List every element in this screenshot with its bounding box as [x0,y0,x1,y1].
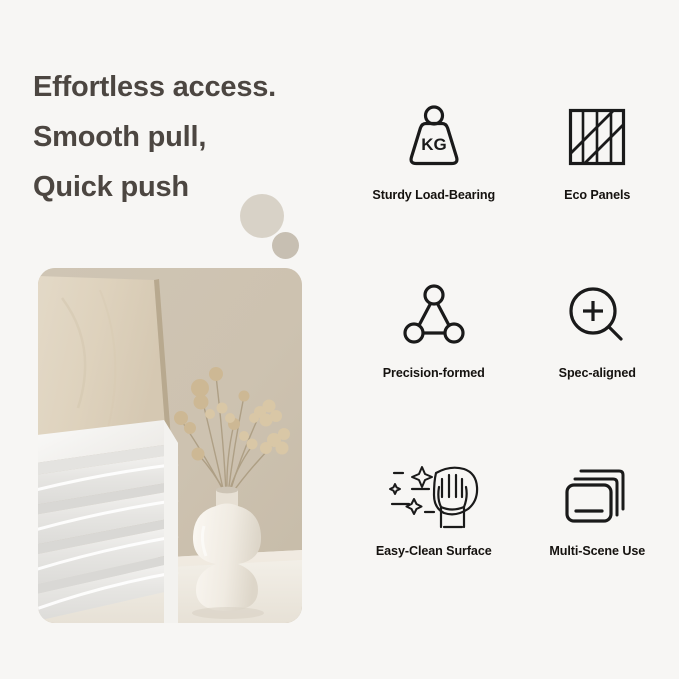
feature-item: Easy-Clean Surface [352,452,516,630]
feature-item: Eco Panels [516,96,679,274]
feature-label: Spec-aligned [559,366,636,380]
feature-label: Sturdy Load-Bearing [372,188,495,202]
weight-icon-text: KG [421,135,447,154]
headline-line-3: Quick push [33,162,333,212]
triangle-nodes-icon [400,274,468,356]
feature-item: Spec-aligned [516,274,679,452]
right-panel: KG Sturdy Load-Bearing [352,0,679,679]
magnifier-plus-icon [563,274,631,356]
wood-panel-icon [566,96,628,178]
feature-grid: KG Sturdy Load-Bearing [352,96,679,630]
stacked-squares-icon [561,452,633,534]
product-feature-page: Effortless access. Smooth pull, Quick pu… [0,0,679,679]
feature-item: Multi-Scene Use [516,452,679,630]
decorative-circle-small [272,232,299,259]
headline-line-1: Effortless access. [33,62,333,112]
decorative-circle-large [240,194,284,238]
hand-wiping-cloth-icon [384,452,484,534]
weight-kg-icon: KG [397,96,471,178]
feature-label: Easy-Clean Surface [376,544,492,558]
feature-label: Eco Panels [564,188,630,202]
feature-label: Multi-Scene Use [549,544,645,558]
paper-organizer-tray [38,420,178,623]
feature-label: Precision-formed [383,366,485,380]
headline-line-2: Smooth pull, [33,112,333,162]
feature-item: KG Sturdy Load-Bearing [352,96,516,274]
left-panel: Effortless access. Smooth pull, Quick pu… [0,0,352,679]
feature-item: Precision-formed [352,274,516,452]
page-title: Effortless access. Smooth pull, Quick pu… [33,62,333,212]
product-photo [38,268,302,623]
